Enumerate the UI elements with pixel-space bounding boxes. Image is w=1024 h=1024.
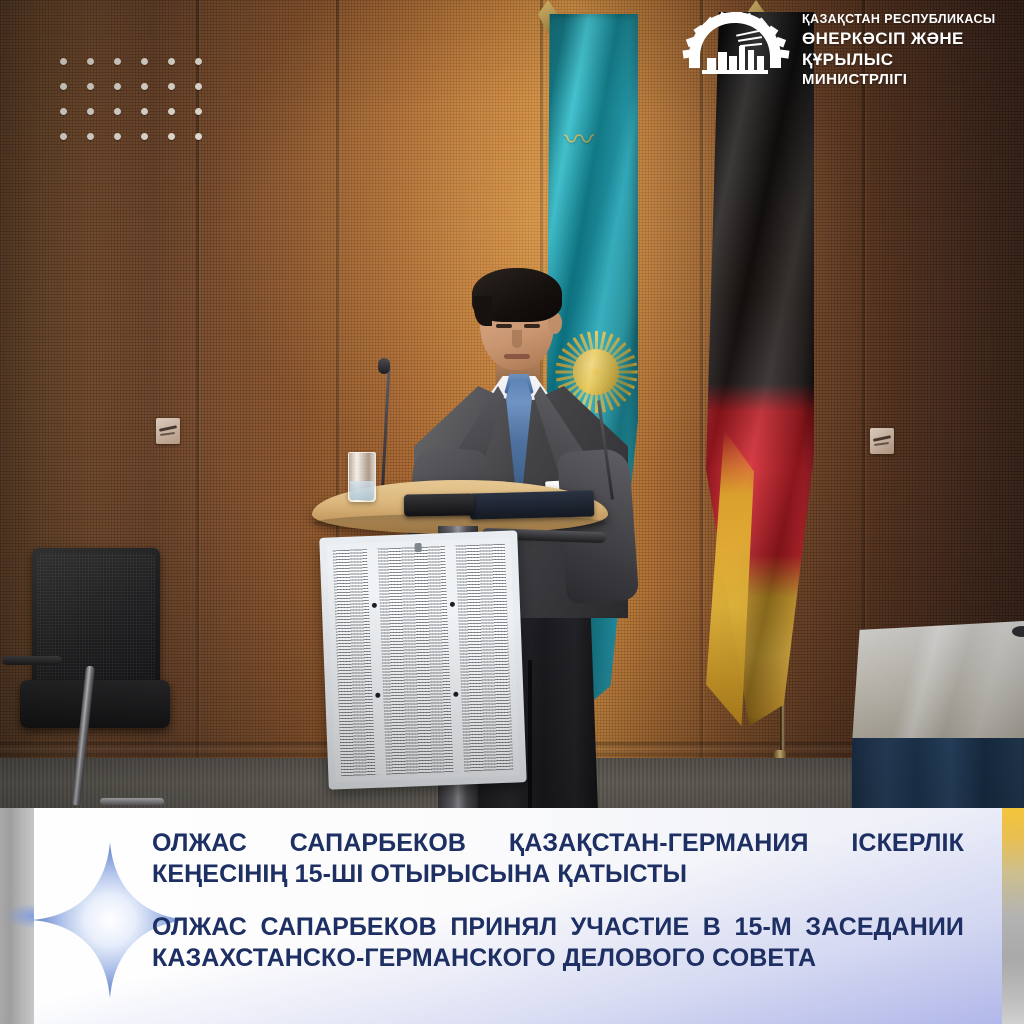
caption-ru-word: ОЛЖАС <box>152 912 247 943</box>
ministry-gear-arch-emblem <box>676 10 794 82</box>
ministry-logo: ҚАЗАҚСТАН РЕСПУБЛИКАСЫ ӨНЕРКӘСІП ЖӘНЕ ҚҰ… <box>676 6 1020 86</box>
caption-bar: ОЛЖАС САПАРБЕКОВ ҚАЗАҚСТАН-ГЕРМАНИЯ ІСКЕ… <box>0 808 1024 1024</box>
caption-kk-word: САПАРБЕКОВ <box>290 828 466 859</box>
photo-vignette <box>0 0 1024 810</box>
ministry-logo-line2: ӨНЕРКӘСІП ЖӘНЕ ҚҰРЫЛЫС <box>802 28 1020 70</box>
caption-kk-word: ІСКЕРЛІК <box>851 828 964 859</box>
caption-ru-line2: КАЗАХСТАНСКО-ГЕРМАНСКОГО ДЕЛОВОГО СОВЕТА <box>152 943 964 974</box>
caption-kk-word: ОЛЖАС <box>152 828 247 859</box>
caption-right-accent-strip <box>1002 808 1024 1024</box>
caption-ru-word: ЗАСЕДАНИИ <box>805 912 964 943</box>
caption-ru-word: ПРИНЯЛ <box>450 912 557 943</box>
caption-kk-word: ҚАЗАҚСТАН-ГЕРМАНИЯ <box>509 828 809 859</box>
caption-kk-line1: ОЛЖАС САПАРБЕКОВ ҚАЗАҚСТАН-ГЕРМАНИЯ ІСКЕ… <box>152 828 964 859</box>
caption-text: ОЛЖАС САПАРБЕКОВ ҚАЗАҚСТАН-ГЕРМАНИЯ ІСКЕ… <box>152 828 964 990</box>
ministry-logo-line3: МИНИСТРЛІГІ <box>802 70 1020 89</box>
ministry-logo-line1: ҚАЗАҚСТАН РЕСПУБЛИКАСЫ <box>802 12 1020 27</box>
caption-left-accent-strip <box>0 808 34 1024</box>
caption-ru-word: САПАРБЕКОВ <box>261 912 437 943</box>
event-photograph: 〰 <box>0 0 1024 810</box>
caption-ru-word: УЧАСТИЕ <box>571 912 690 943</box>
caption-kk-line2: КЕҢЕСІНІҢ 15-ШІ ОТЫРЫСЫНА ҚАТЫСТЫ <box>152 859 964 890</box>
press-release-card: 〰 <box>0 0 1024 1024</box>
caption-ru-word: 15-М <box>735 912 792 943</box>
caption-kazakh: ОЛЖАС САПАРБЕКОВ ҚАЗАҚСТАН-ГЕРМАНИЯ ІСКЕ… <box>152 828 964 890</box>
caption-ru-word: В <box>703 912 721 943</box>
caption-russian: ОЛЖАС САПАРБЕКОВ ПРИНЯЛ УЧАСТИЕ В 15-М З… <box>152 912 964 974</box>
caption-ru-line1: ОЛЖАС САПАРБЕКОВ ПРИНЯЛ УЧАСТИЕ В 15-М З… <box>152 912 964 943</box>
